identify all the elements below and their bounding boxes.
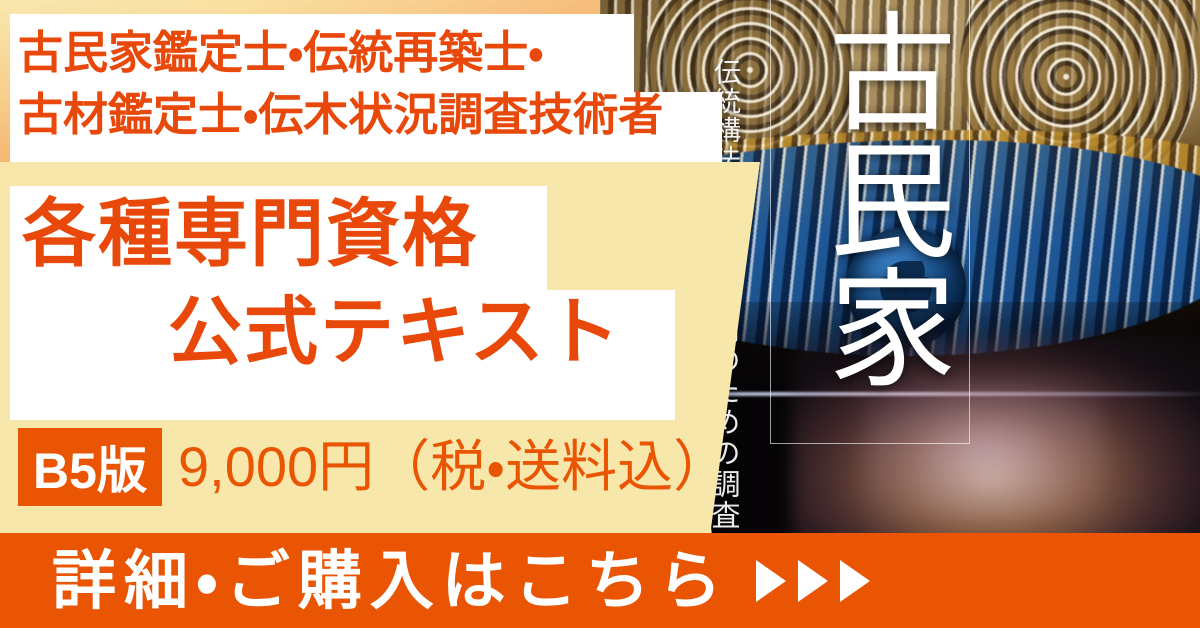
format-badge: B5版 [18, 428, 162, 506]
cta-label: 詳細・ご購入はこちら [52, 549, 730, 613]
chevron-right-icon [756, 560, 786, 602]
chevron-right-icon [798, 560, 828, 602]
promo-banner: 古民家 伝統構法 古民家活用のための調査と再生の 古民家鑑定士・伝統再築士・ 古… [0, 0, 1200, 628]
qualification-headline: 古民家鑑定士・伝統再築士・ 古材鑑定士・伝木状況調査技術者 [18, 22, 718, 146]
title-line-2: 公式テキスト [168, 288, 622, 376]
headline-line-2: 古材鑑定士・伝木状況調査技術者 [18, 84, 718, 146]
title-line-1: 各種専門資格 [22, 190, 478, 278]
cta-bar[interactable]: 詳細・ご購入はこちら [0, 533, 1200, 628]
cover-main-title: 古民家 [795, 6, 945, 436]
cta-arrow-group [756, 560, 870, 602]
headline-line-1: 古民家鑑定士・伝統再築士・ [18, 22, 718, 84]
chevron-right-icon [840, 560, 870, 602]
price-label: 9,000円（税・送料込） [178, 430, 729, 504]
